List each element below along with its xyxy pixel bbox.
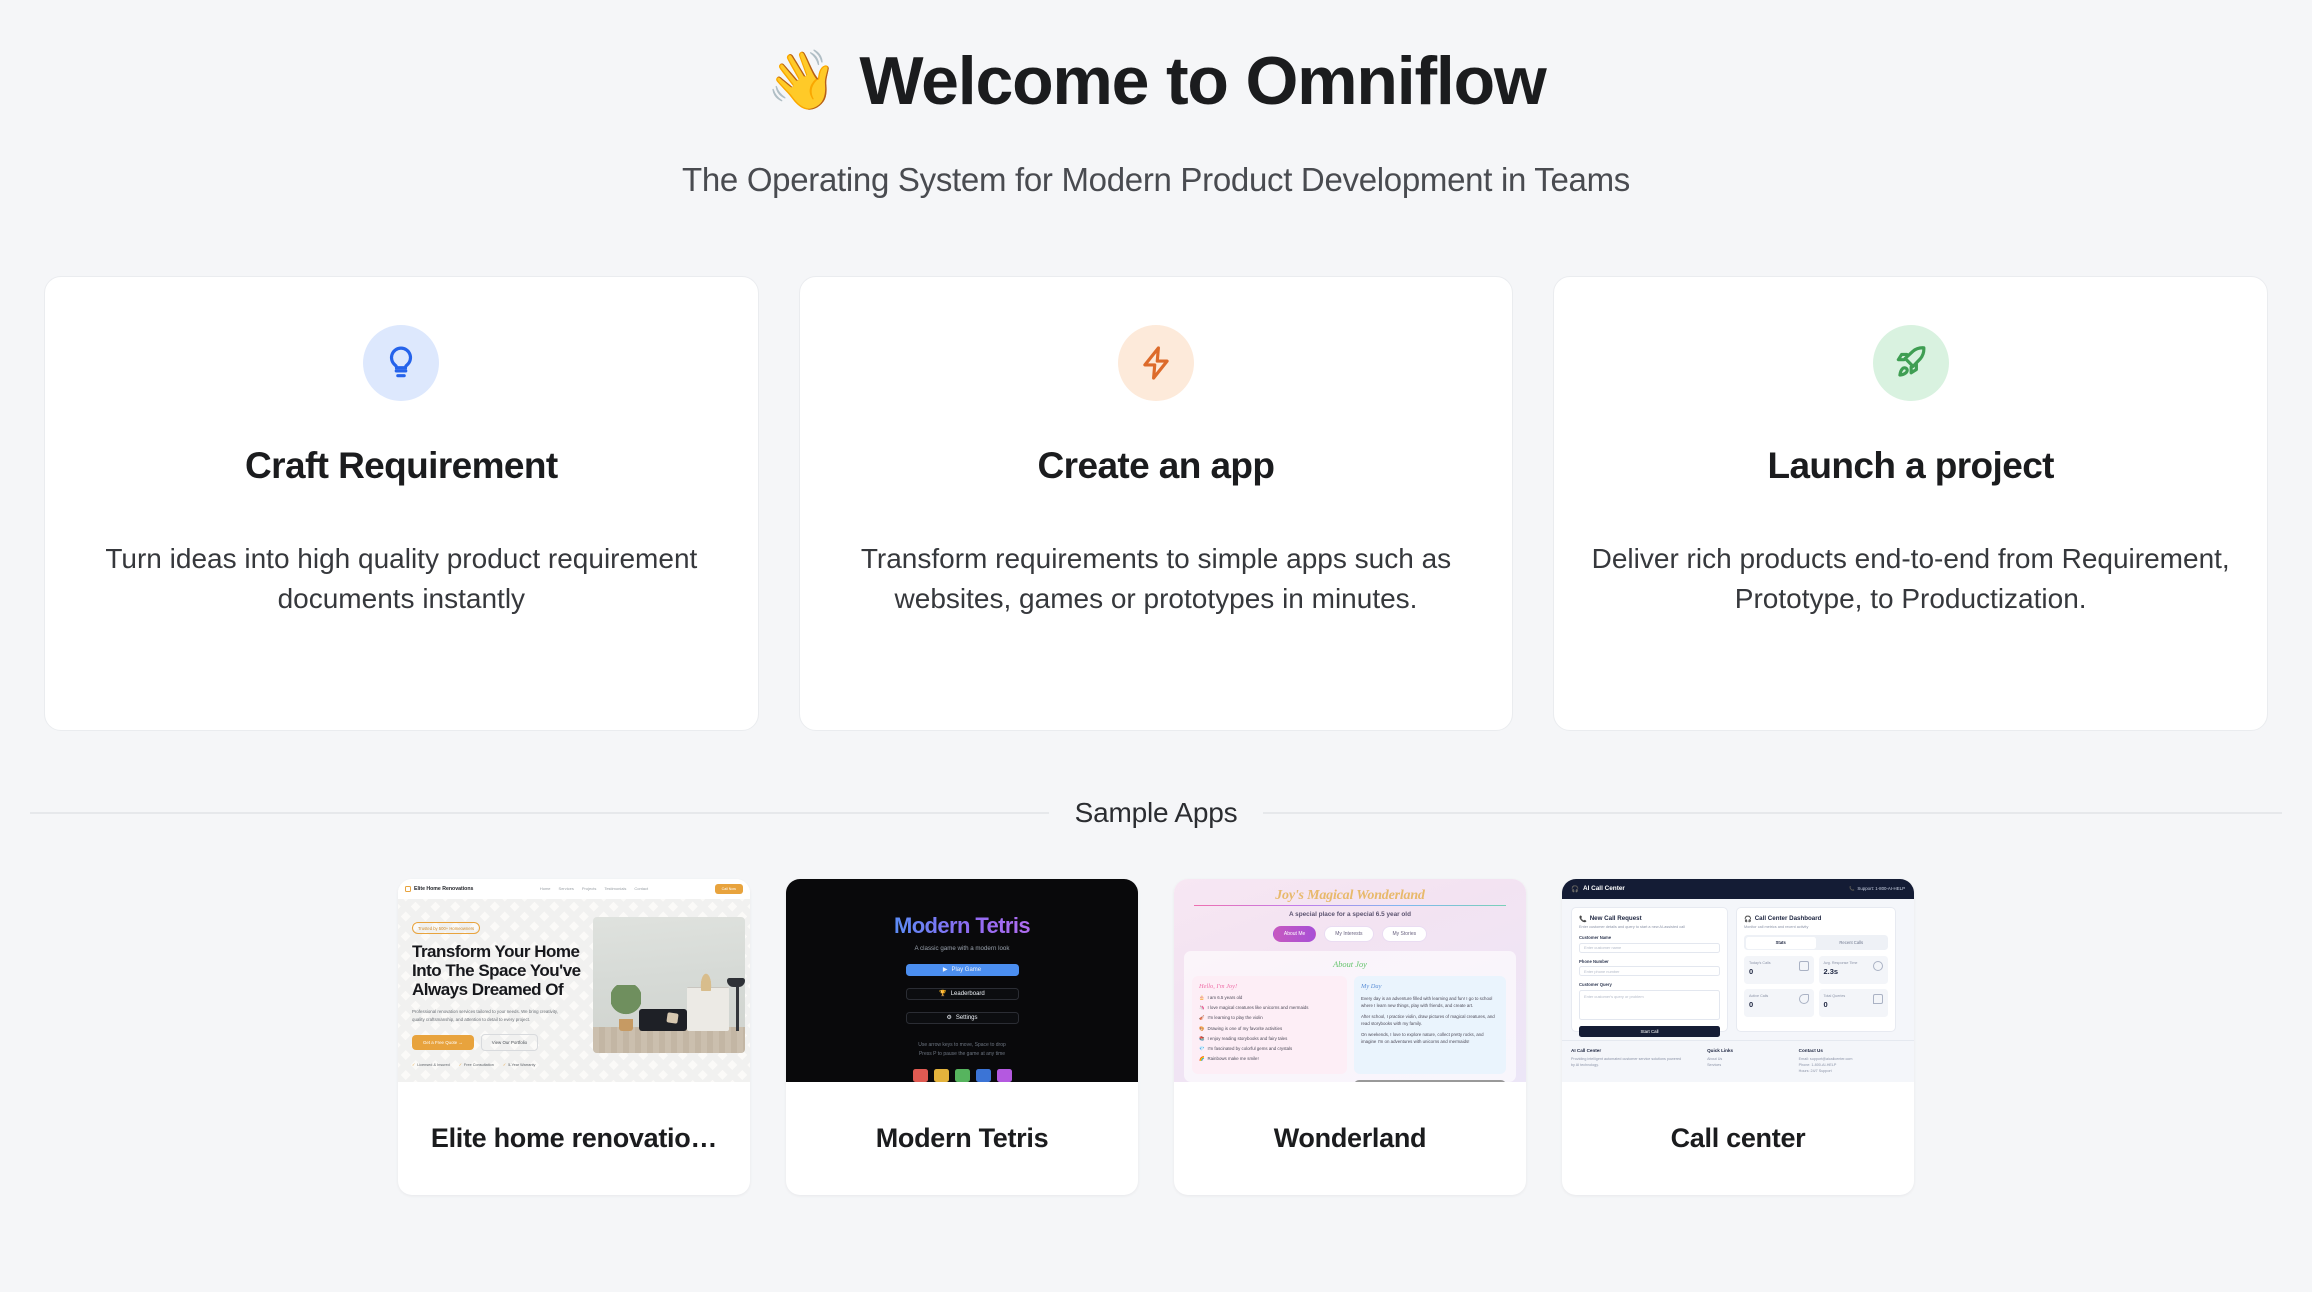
sofa [639, 1009, 687, 1031]
dresser [687, 987, 729, 1031]
stat-tile-todays-calls: Today's Calls 0 [1744, 956, 1814, 984]
pampas-grass [697, 965, 715, 991]
customer-query-input: Enter customer's query or problem [1579, 990, 1720, 1020]
app-thumbnail-wonderland: Joy's Magical Wonderland A special place… [1174, 879, 1526, 1082]
lightning-bolt-icon [1118, 325, 1194, 401]
customer-name-input: Enter customer name [1579, 943, 1720, 953]
feature-description: Turn ideas into high quality product req… [79, 539, 724, 619]
pot [619, 1019, 633, 1031]
divider-line-left [30, 812, 1049, 814]
thumb-quote-button: Get a Free Quote → [412, 1035, 474, 1050]
feature-card-craft-requirement[interactable]: Craft Requirement Turn ideas into high q… [44, 276, 759, 731]
thumb-about-card: Hello, I'm Joy! 🎂I am 6.5 years old 🦄I l… [1192, 976, 1347, 1074]
thumb-logo: Elite Home Renovations [405, 886, 473, 892]
app-card-title: Elite home renovatio… [398, 1082, 750, 1195]
footer-contact-line: Hours: 24/7 Support [1799, 1068, 1905, 1074]
thumb-navbar: 🎧 AI Call Center 📞 Support: 1-800-AI-HEL… [1562, 879, 1914, 899]
check-icon: ✓ [412, 1063, 415, 1067]
footer-quick-links-heading: Quick Links [1707, 1048, 1777, 1053]
dashboard-subtitle: Monitor call metrics and recent activity [1744, 925, 1888, 929]
thumb-heading: Modern Tetris [894, 913, 1030, 939]
stat-value: 0 [1824, 1000, 1846, 1009]
house-icon [405, 886, 411, 892]
app-thumbnail-elite-home-renovations: Elite Home Renovations Home Services Pro… [398, 879, 750, 1082]
phone-number-input: Enter phone number [1579, 966, 1720, 976]
waving-hand-icon: 👋 [766, 52, 837, 110]
form-subtitle: Enter customer details and query to star… [1579, 925, 1720, 929]
tetromino-swatch [934, 1069, 949, 1082]
hero-section: 👋 Welcome to Omniflow The Operating Syst… [0, 0, 2312, 199]
thumb-tab-about-me: About Me [1273, 926, 1316, 942]
tetromino-swatch [913, 1069, 928, 1082]
thumb-buttons: Get a Free Quote → View Our Portfolio [412, 1034, 587, 1051]
paragraph: On weekends, I love to explore nature, c… [1361, 1031, 1499, 1045]
footer-contact-heading: Contact Us [1799, 1048, 1905, 1053]
app-card-title: Wonderland [1174, 1082, 1526, 1195]
list-item: 💎I'm fascinated by colorful gems and cry… [1199, 1046, 1340, 1053]
thumb-hero: Trusted by 500+ Homeowners Transform You… [398, 899, 750, 1082]
play-icon: ▶ [943, 966, 948, 973]
item-emoji: 🦄 [1199, 1005, 1204, 1012]
sample-apps-list: Elite Home Renovations Home Services Pro… [0, 879, 2312, 1195]
welcome-page: 👋 Welcome to Omniflow The Operating Syst… [0, 0, 2312, 1292]
field-label: Customer Name [1579, 935, 1720, 940]
thumb-room-photo [593, 917, 745, 1053]
app-card-title: Modern Tetris [786, 1082, 1138, 1195]
thumb-nav-item: Services [559, 886, 574, 891]
feature-card-create-an-app[interactable]: Create an app Transform requirements to … [799, 276, 1514, 731]
rainbow-rule [1194, 905, 1506, 906]
message-icon [1873, 994, 1883, 1004]
thumb-play-game-button: ▶ Play Game [906, 964, 1019, 976]
list-item: 🎂I am 6.5 years old [1199, 995, 1340, 1002]
start-call-button: Start Call [1579, 1026, 1720, 1037]
dashboard-title: 🎧 Call Center Dashboard [1744, 915, 1888, 923]
dashboard-tabs: Stats Recent Calls [1744, 935, 1888, 950]
list-item: 🎨Drawing is one of my favorite activitie… [1199, 1026, 1340, 1033]
thumb-panel: About Joy Hello, I'm Joy! 🎂I am 6.5 year… [1184, 951, 1516, 1082]
thumb-call-now-button: Call Now [715, 884, 743, 894]
tetromino-swatch [976, 1069, 991, 1082]
thumb-tetromino-swatches [913, 1069, 1012, 1082]
stat-label: Today's Calls [1749, 961, 1771, 965]
thumb-new-call-form: 📞 New Call Request Enter customer detail… [1571, 907, 1728, 1032]
headset-icon: 🎧 [1571, 885, 1579, 893]
thumb-navbar: Elite Home Renovations Home Services Pro… [398, 879, 750, 899]
thumb-heading: Joy's Magical Wonderland [1184, 888, 1516, 904]
feature-description: Deliver rich products end-to-end from Re… [1588, 539, 2233, 619]
calendar-icon [1799, 961, 1809, 971]
item-emoji: 📚 [1199, 1036, 1204, 1043]
thumb-nav-item: Projects [582, 886, 596, 891]
thumb-feature-item: ✓Free Consultation [459, 1062, 494, 1067]
feature-description: Transform requirements to simple apps su… [834, 539, 1479, 619]
tab-recent-calls: Recent Calls [1816, 937, 1887, 949]
check-icon: ✓ [459, 1063, 462, 1067]
stat-value: 0 [1749, 967, 1771, 976]
thumb-nav-item: Home [540, 886, 551, 891]
list-item: 🎻I'm learning to play the violin [1199, 1015, 1340, 1022]
gear-icon: ⚙ [946, 1014, 951, 1021]
thumb-myday-card: My Day Every day is an adventure filled … [1354, 976, 1506, 1074]
thumb-badge: Trusted by 500+ Homeowners [412, 922, 480, 934]
thumb-tab-my-stories: My Stories [1382, 926, 1428, 942]
thumb-feature-list: ✓Licensed & Insured ✓Free Consultation ✓… [412, 1062, 587, 1067]
app-thumbnail-call-center: 🎧 AI Call Center 📞 Support: 1-800-AI-HEL… [1562, 879, 1914, 1082]
stat-label: Total Queries [1824, 994, 1846, 998]
rocket-icon [1873, 325, 1949, 401]
pillow [666, 1012, 678, 1023]
list-item: 📚I enjoy reading storybooks and fairy ta… [1199, 1036, 1340, 1043]
stat-value: 0 [1749, 1000, 1768, 1009]
page-subtitle: The Operating System for Modern Product … [0, 161, 2312, 199]
field-label: Phone Number [1579, 959, 1720, 964]
thumb-card-heading: Hello, I'm Joy! [1199, 983, 1340, 990]
sample-apps-label: Sample Apps [1075, 797, 1238, 829]
page-title-text: Welcome to Omniflow [859, 44, 1545, 119]
clock-icon [1873, 961, 1883, 971]
item-emoji: 🎂 [1199, 995, 1204, 1002]
thumb-card-heading: My Day [1361, 983, 1499, 990]
form-title: 📞 New Call Request [1579, 915, 1720, 923]
lamp-stand [736, 983, 739, 1031]
app-card-wonderland[interactable]: Joy's Magical Wonderland A special place… [1174, 879, 1526, 1195]
trophy-icon: 🏆 [939, 990, 946, 997]
feature-card-launch-a-project[interactable]: Launch a project Deliver rich products e… [1553, 276, 2268, 731]
item-emoji: 💎 [1199, 1046, 1204, 1053]
item-emoji: 🎨 [1199, 1026, 1204, 1033]
paragraph: Every day is an adventure filled with le… [1361, 995, 1499, 1009]
feature-title: Launch a project [1767, 445, 2053, 487]
app-card-call-center[interactable]: 🎧 AI Call Center 📞 Support: 1-800-AI-HEL… [1562, 879, 1914, 1195]
thumb-support-text: 📞 Support: 1-800-AI-HELP [1849, 886, 1905, 892]
app-card-title: Call center [1562, 1082, 1914, 1195]
item-emoji: 🌈 [1199, 1056, 1204, 1063]
divider-line-right [1263, 812, 2282, 814]
thumb-portfolio-button: View Our Portfolio [481, 1034, 538, 1051]
footer-brand-text: Providing intelligent automated customer… [1571, 1056, 1685, 1069]
thumb-footer: AI Call Center Providing intelligent aut… [1562, 1040, 1914, 1075]
field-label: Customer Query [1579, 982, 1720, 987]
thumb-nav: Home Services Projects Testimonials Cont… [540, 886, 648, 891]
footer-brand: AI Call Center [1571, 1048, 1685, 1053]
thumb-nav-item: Contact [634, 886, 648, 891]
thumb-dashboard: 🎧 Call Center Dashboard Monitor call met… [1736, 907, 1896, 1032]
thumb-feature-item: ✓Licensed & Insured [412, 1062, 450, 1067]
feature-title: Craft Requirement [245, 445, 558, 487]
thumb-image-placeholder [1354, 1080, 1506, 1082]
stat-label: Active Calls [1749, 994, 1768, 998]
feature-cards: Craft Requirement Turn ideas into high q… [0, 276, 2312, 731]
stat-tile-total-queries: Total Queries 0 [1819, 989, 1889, 1017]
page-title: 👋 Welcome to Omniflow [0, 44, 2312, 119]
thumb-subtitle: A special place for a special 6.5 year o… [1184, 911, 1516, 918]
stat-grid: Today's Calls 0 Avg. Response Time 2.3s [1744, 956, 1888, 1017]
tetromino-swatch [955, 1069, 970, 1082]
phone-icon: 📞 [1849, 886, 1854, 892]
app-card-modern-tetris[interactable]: Modern Tetris A classic game with a mode… [786, 879, 1138, 1195]
stat-label: Avg. Response Time [1824, 961, 1858, 965]
list-item: 🦄I love magical creatures like unicorns … [1199, 1005, 1340, 1012]
stat-value: 2.3s [1824, 967, 1858, 976]
thumb-tab-my-interests: My Interests [1324, 926, 1373, 942]
app-card-elite-home-renovations[interactable]: Elite Home Renovations Home Services Pro… [398, 879, 750, 1195]
phone-icon [1799, 994, 1809, 1004]
lightbulb-icon [363, 325, 439, 401]
thumb-help-text: Use arrow keys to move, Space to drop Pr… [918, 1041, 1006, 1059]
thumb-section-heading: About Joy [1192, 960, 1508, 969]
lamp-shade [727, 978, 745, 987]
thumb-subtitle: A classic game with a modern look [915, 945, 1010, 952]
thumb-nav-item: Testimonials [604, 886, 626, 891]
tab-stats: Stats [1746, 937, 1817, 949]
item-emoji: 🎻 [1199, 1015, 1204, 1022]
phone-icon: 📞 [1579, 915, 1587, 923]
thumb-logo-text: Elite Home Renovations [414, 886, 473, 892]
tetromino-swatch [997, 1069, 1012, 1082]
thumb-feature-item: ✓5-Year Warranty [503, 1062, 536, 1067]
footer-link: Services [1707, 1062, 1777, 1068]
help-line: Press P to pause the game at any time [918, 1050, 1006, 1059]
thumb-heading: Transform Your Home Into The Space You'v… [412, 942, 587, 999]
thumb-settings-button: ⚙ Settings [906, 1012, 1019, 1024]
thumb-brand: 🎧 AI Call Center [1571, 885, 1625, 893]
thumb-paragraph: Professional renovation services tailore… [412, 1008, 570, 1023]
list-item: 🌈Rainbows make me smile! [1199, 1056, 1340, 1063]
help-line: Use arrow keys to move, Space to drop [918, 1041, 1006, 1050]
thumb-tabs: About Me My Interests My Stories [1184, 926, 1516, 942]
paragraph: After school, I practice violin, draw pi… [1361, 1013, 1499, 1027]
app-thumbnail-modern-tetris: Modern Tetris A classic game with a mode… [786, 879, 1138, 1082]
sample-apps-divider: Sample Apps [0, 797, 2312, 829]
thumb-leaderboard-button: 🏆 Leaderboard [906, 988, 1019, 1000]
check-icon: ✓ [503, 1063, 506, 1067]
stat-tile-active-calls: Active Calls 0 [1744, 989, 1814, 1017]
feature-title: Create an app [1038, 445, 1275, 487]
headset-icon: 🎧 [1744, 915, 1752, 923]
stat-tile-avg-response-time: Avg. Response Time 2.3s [1819, 956, 1889, 984]
